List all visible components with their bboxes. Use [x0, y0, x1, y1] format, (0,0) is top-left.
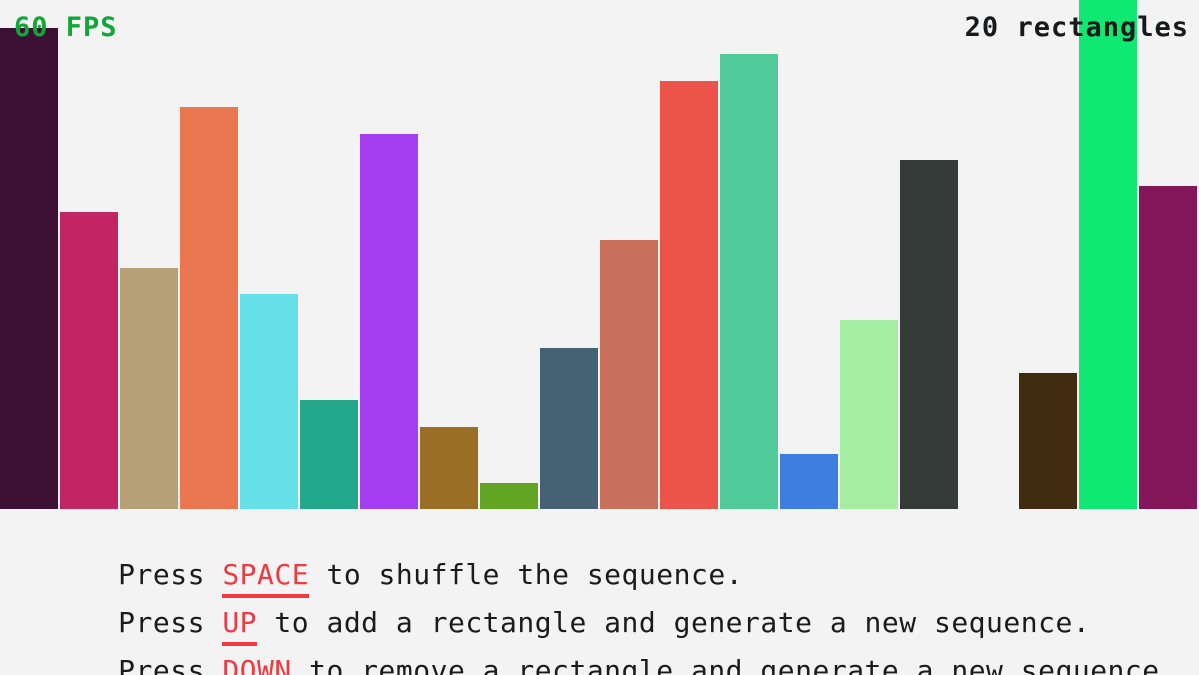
instruction-line-remove: Press DOWN to remove a rectangle and gen… — [14, 629, 1177, 675]
bar-2-magenta — [60, 212, 118, 509]
bar-7-purple — [360, 134, 418, 509]
instruction-prefix: Press — [118, 654, 222, 675]
bar-20-maroon — [1139, 186, 1197, 509]
bar-9-olive-green — [480, 483, 538, 509]
bar-10-slate-blue — [540, 348, 598, 509]
bar-11-terracotta — [600, 240, 658, 509]
bar-18-dark-brown — [1019, 373, 1077, 509]
bar-12-red — [660, 81, 718, 509]
bar-4-orange — [180, 107, 238, 509]
bar-1-dark-plum — [0, 28, 58, 509]
rectangle-count-label: 20 rectangles — [965, 14, 1189, 41]
bar-16-charcoal — [900, 160, 958, 509]
bar-8-brown — [420, 427, 478, 509]
key-down[interactable]: DOWN — [222, 654, 291, 675]
bar-5-cyan — [240, 294, 298, 509]
fps-counter: 60 FPS — [14, 14, 118, 41]
bar-15-light-green — [840, 320, 898, 509]
instructions-panel: Press SPACE to shuffle the sequence. Pre… — [0, 509, 1199, 675]
bar-3-khaki — [120, 268, 178, 509]
bar-19-bright-green — [1079, 0, 1137, 509]
bar-6-teal — [300, 400, 358, 509]
rectangle-visualizer-app: 60 FPS 20 rectangles Press SPACE to shuf… — [0, 0, 1199, 675]
instruction-suffix: to remove a rectangle and generate a new… — [292, 654, 1177, 675]
bar-13-mint-green — [720, 54, 778, 509]
bar-chart-canvas[interactable] — [0, 0, 1199, 509]
bar-14-blue — [780, 454, 838, 509]
